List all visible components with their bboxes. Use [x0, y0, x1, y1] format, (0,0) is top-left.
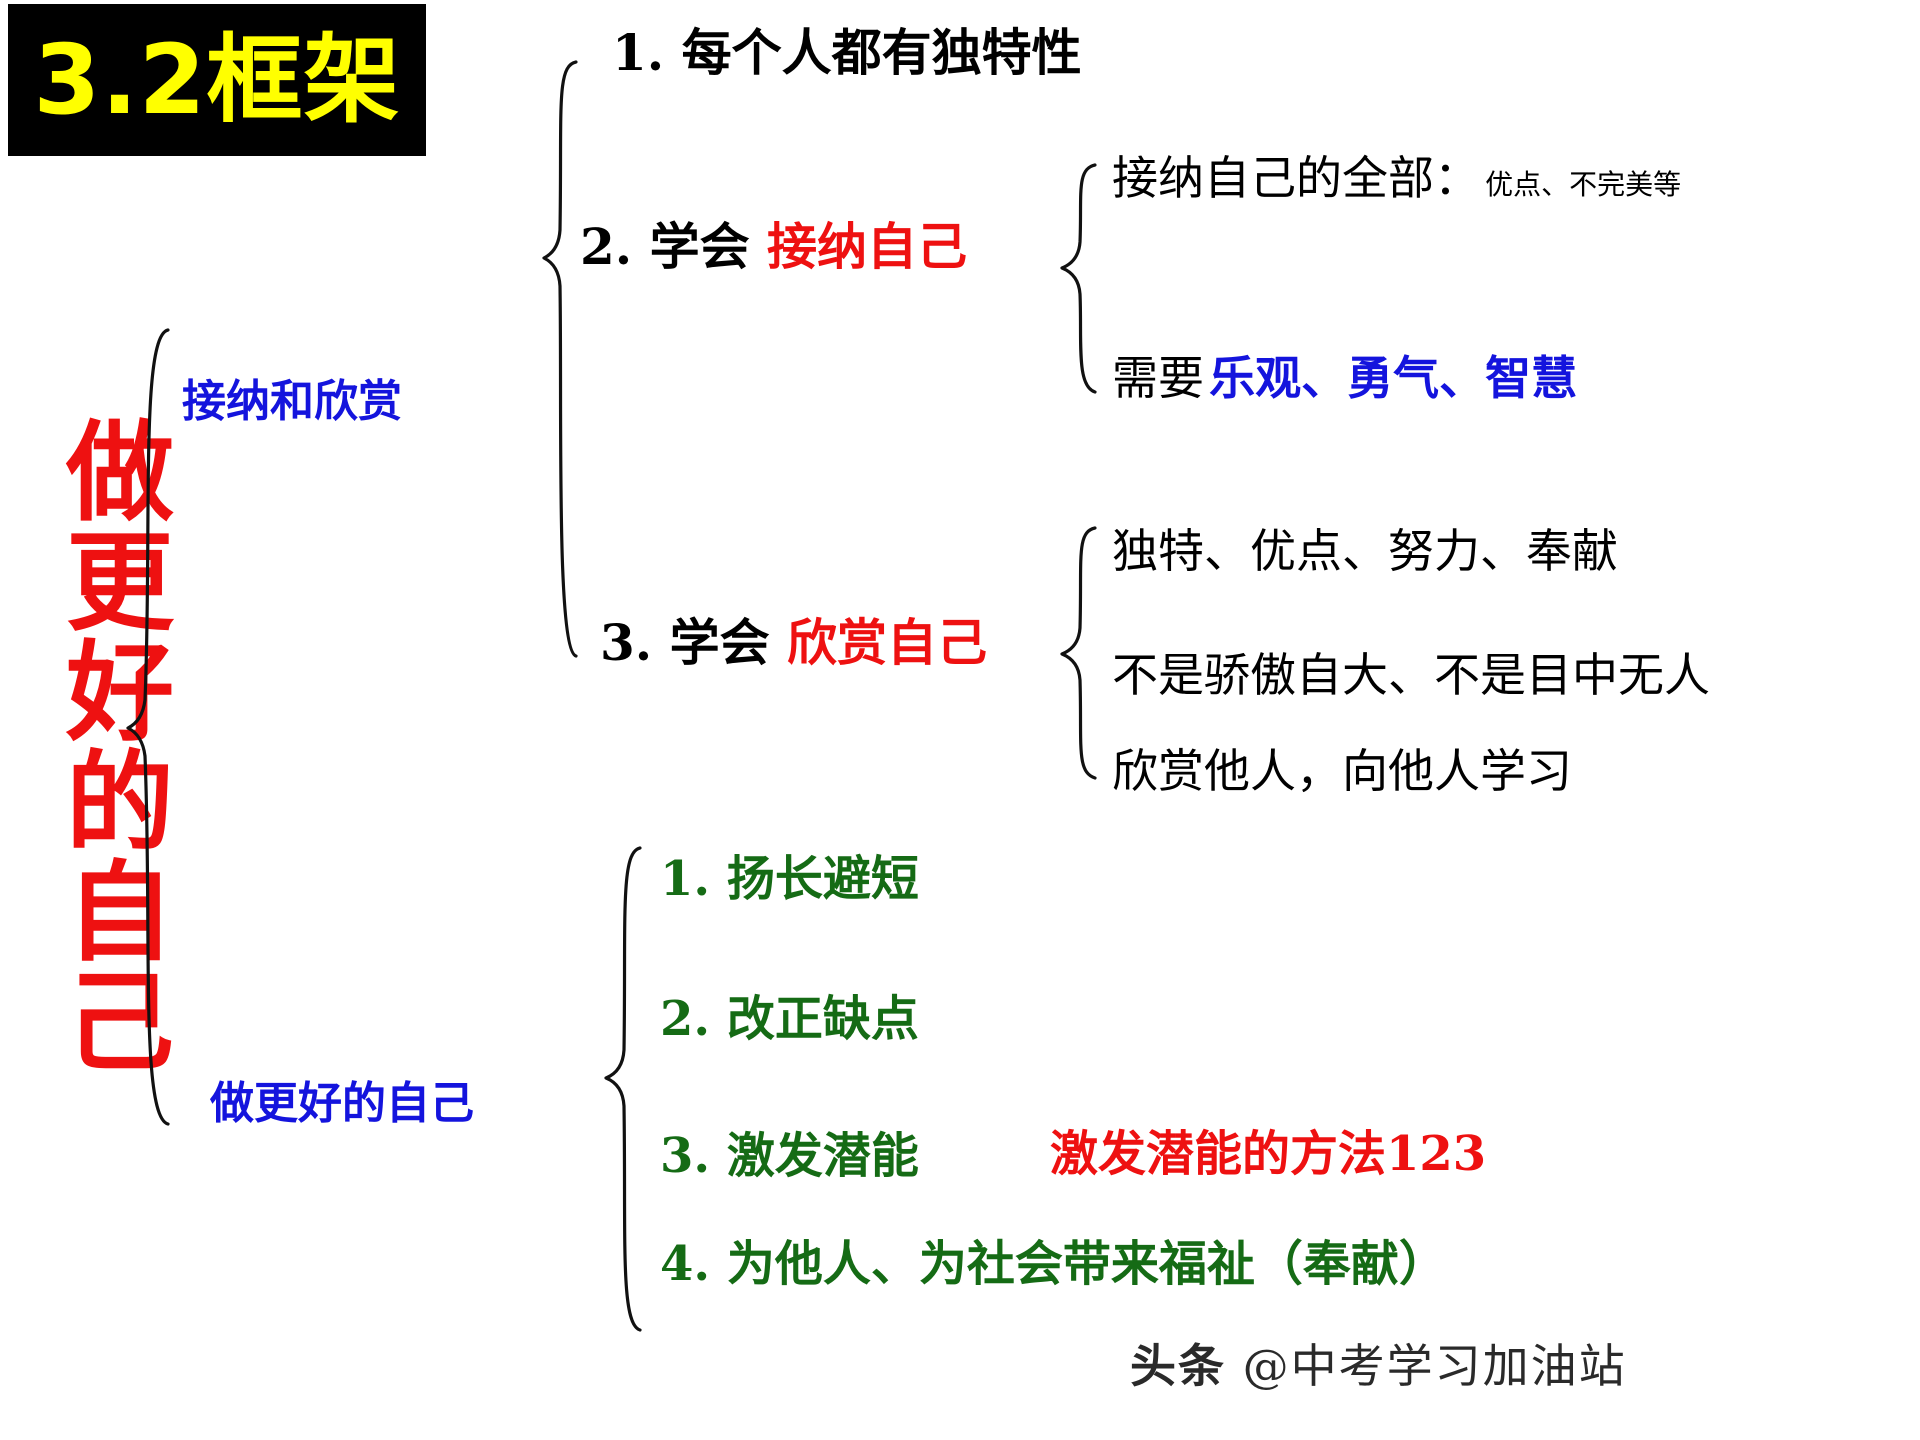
branch-label-better-self: 做更好的自己 [210, 1082, 474, 1126]
branch2-item-2-number: 2. [660, 991, 710, 1047]
item2-brace-icon [1062, 165, 1095, 392]
potential-method-annotation: 激发潜能的方法123 [1050, 1130, 1486, 1178]
branch2-item-2: 2. 改正缺点 [660, 995, 919, 1043]
branch1-item-1-text: 每个人都有独特性 [682, 23, 1082, 82]
item2-detail-2-emphasis: 乐观、勇气、智慧 [1209, 351, 1577, 405]
item2-detail-1-lead: 接纳自己的全部： [1112, 151, 1480, 205]
branch2-item-1-number: 1. [660, 851, 710, 907]
branch1-item-3-number: 3. [600, 613, 652, 672]
branch2-item-4-number: 4. [660, 1236, 710, 1292]
item2-detail-1-note: 优点、不完美等 [1485, 168, 1681, 201]
item3-detail-2: 不是骄傲自大、不是目中无人 [1112, 652, 1710, 698]
branch1-item-1-number: 1. [612, 23, 664, 82]
item2-detail-1: 接纳自己的全部： 优点、不完美等 [1112, 155, 1681, 201]
branch2-item-2-text: 改正缺点 [727, 991, 919, 1047]
branch2-item-4-text: 为他人、为社会带来福祉（奉献） [727, 1236, 1447, 1292]
branch2-item-4: 4. 为他人、为社会带来福祉（奉献） [660, 1240, 1447, 1288]
watermark: 头条 @中考学习加油站 [1130, 1330, 1627, 1396]
branch2-item-3-number: 3. [660, 1128, 710, 1184]
mindmap-canvas: 3.2框架 做更好的自己 接纳和欣赏 1. 每个人都有独特性 2. 学会 接纳自… [0, 0, 1920, 1440]
branch2-item-1-text: 扬长避短 [727, 851, 919, 907]
watermark-handle: @中考学习加油站 [1243, 1339, 1627, 1393]
title-badge: 3.2框架 [8, 4, 426, 156]
branch1-item-3: 3. 学会 欣赏自己 [600, 618, 987, 668]
item2-detail-2: 需要 乐观、勇气、智慧 [1112, 355, 1577, 401]
branch-label-acceptance: 接纳和欣赏 [182, 380, 402, 424]
branch2-item-3: 3. 激发潜能 [660, 1132, 919, 1180]
watermark-source: 头条 [1130, 1339, 1226, 1393]
brace-connectors [0, 0, 1920, 1440]
branch2-item-1: 1. 扬长避短 [660, 855, 919, 903]
branch1-item-2-prefix: 学会 [650, 217, 750, 276]
branch1-item-3-prefix: 学会 [670, 613, 770, 672]
branch1-item-1: 1. 每个人都有独特性 [612, 28, 1082, 78]
branch1-brace-icon [544, 62, 576, 656]
item3-detail-1: 独特、优点、努力、奉献 [1112, 528, 1618, 574]
item3-brace-icon [1062, 528, 1095, 778]
branch1-item-2-emphasis: 接纳自己 [767, 217, 967, 276]
item2-detail-2-lead: 需要 [1112, 351, 1204, 405]
title-badge-text: 3.2框架 [33, 32, 400, 128]
item3-detail-3: 欣赏他人，向他人学习 [1112, 748, 1572, 794]
branch2-item-3-text: 激发潜能 [727, 1128, 919, 1184]
branch1-item-2-number: 2. [580, 217, 632, 276]
branch1-item-2: 2. 学会 接纳自己 [580, 222, 967, 272]
root-node-label: 做更好的自己 [18, 395, 168, 1095]
branch1-item-3-emphasis: 欣赏自己 [787, 613, 987, 672]
branch2-brace-icon [606, 848, 640, 1330]
